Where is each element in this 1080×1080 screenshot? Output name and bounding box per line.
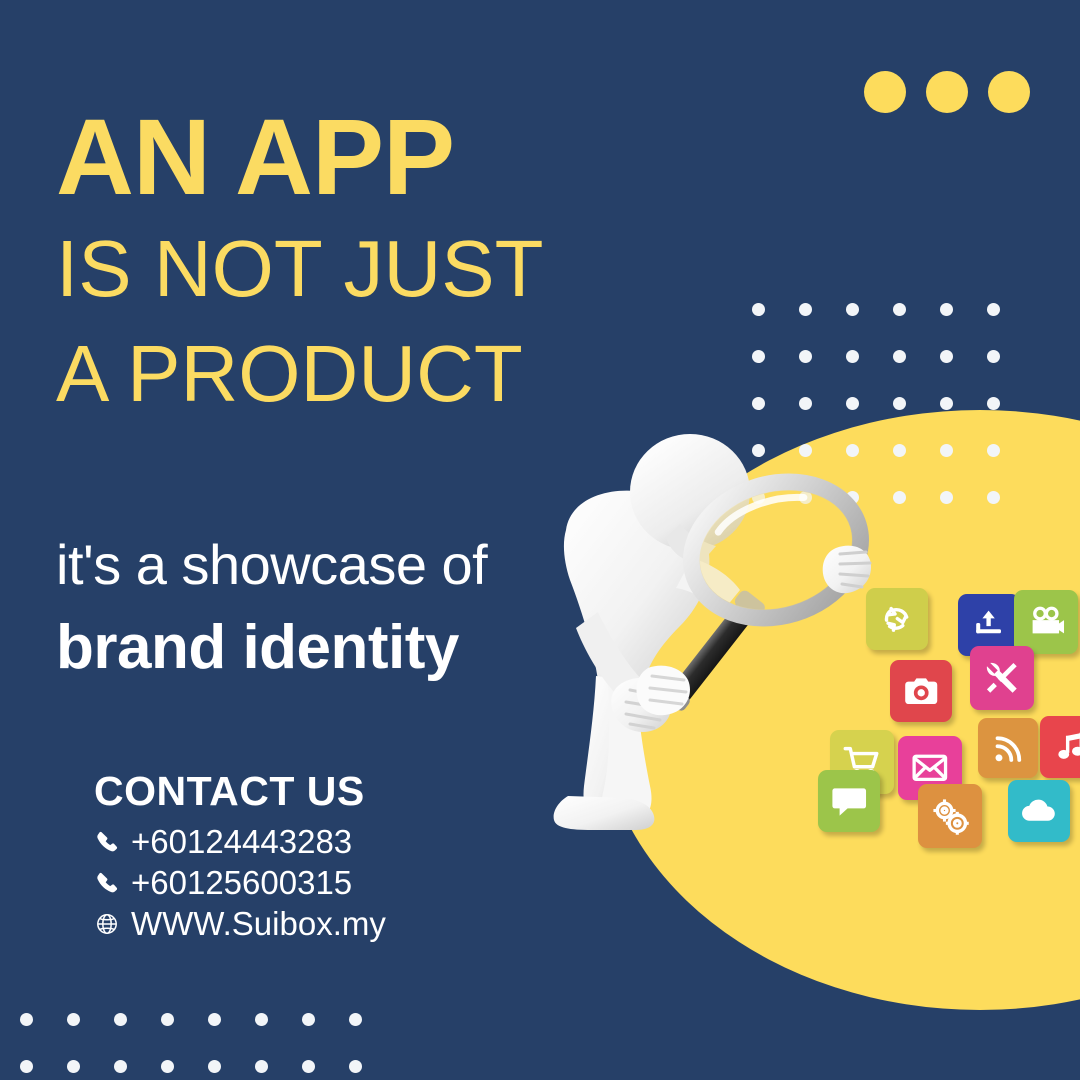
decor-dot [752, 397, 765, 410]
decor-dot [349, 1013, 362, 1026]
decor-dot [20, 1013, 33, 1026]
decor-dot [349, 1060, 362, 1073]
decor-dot [893, 303, 906, 316]
contact-row-phone-2[interactable]: +60125600315 [94, 862, 386, 903]
decor-dot [255, 1060, 268, 1073]
decor-dot [302, 1013, 315, 1026]
decor-dot [846, 350, 859, 363]
decor-dot [988, 71, 1030, 113]
video-icon[interactable] [1014, 590, 1078, 654]
tools-icon[interactable] [970, 646, 1034, 710]
decor-dot [208, 1060, 221, 1073]
app-icon-cluster [818, 588, 1080, 838]
decor-dot [255, 1013, 268, 1026]
page-title: AN APP IS NOT JUST A PRODUCT [56, 104, 656, 427]
decor-dot [987, 350, 1000, 363]
contact-block: CONTACT US +60124443283 +60125600315 [94, 768, 386, 944]
decor-dot [940, 397, 953, 410]
decor-dot [940, 491, 953, 504]
decor-dot [799, 350, 812, 363]
recycle-icon[interactable] [866, 588, 928, 650]
decor-dot [893, 397, 906, 410]
decor-dot [940, 303, 953, 316]
rss-icon[interactable] [978, 718, 1038, 778]
decor-dot [846, 397, 859, 410]
decor-dot [208, 1013, 221, 1026]
decor-dot [926, 71, 968, 113]
phone-icon [94, 868, 120, 898]
decor-dot [987, 397, 1000, 410]
contact-heading: CONTACT US [94, 768, 386, 815]
settings-icon[interactable] [918, 784, 982, 848]
decor-dot [67, 1060, 80, 1073]
contact-row-website[interactable]: WWW.Suibox.my [94, 903, 386, 944]
decor-dot [987, 303, 1000, 316]
decor-dot [987, 491, 1000, 504]
decor-dot [752, 303, 765, 316]
decor-dot [161, 1013, 174, 1026]
decor-dot [752, 350, 765, 363]
decor-dot [67, 1013, 80, 1026]
globe-icon [94, 909, 120, 939]
headline-line-2: IS NOT JUST [56, 216, 656, 322]
decor-dot [114, 1013, 127, 1026]
decor-dot [20, 1060, 33, 1073]
headline-line-3: A PRODUCT [56, 321, 656, 427]
poster-canvas: AN APP IS NOT JUST A PRODUCT it's a show… [0, 0, 1080, 1080]
camera-icon[interactable] [890, 660, 952, 722]
music-icon[interactable] [1040, 716, 1080, 778]
contact-phone-1-value: +60124443283 [131, 823, 352, 861]
decor-dot [846, 303, 859, 316]
cloud-icon[interactable] [1008, 780, 1070, 842]
contact-phone-2-value: +60125600315 [131, 864, 352, 902]
decor-dot [987, 444, 1000, 457]
contact-row-phone-1[interactable]: +60124443283 [94, 821, 386, 862]
decor-dot [864, 71, 906, 113]
decor-dot [799, 397, 812, 410]
decor-dot [114, 1060, 127, 1073]
contact-website-value: WWW.Suibox.my [131, 905, 386, 943]
headline-line-1: AN APP [56, 104, 656, 210]
chat-icon[interactable] [818, 770, 880, 832]
decor-dot [940, 444, 953, 457]
decor-dot [940, 350, 953, 363]
decor-dot [161, 1060, 174, 1073]
phone-icon [94, 827, 120, 857]
decor-dot [893, 350, 906, 363]
decor-dot [302, 1060, 315, 1073]
decor-dot [799, 303, 812, 316]
